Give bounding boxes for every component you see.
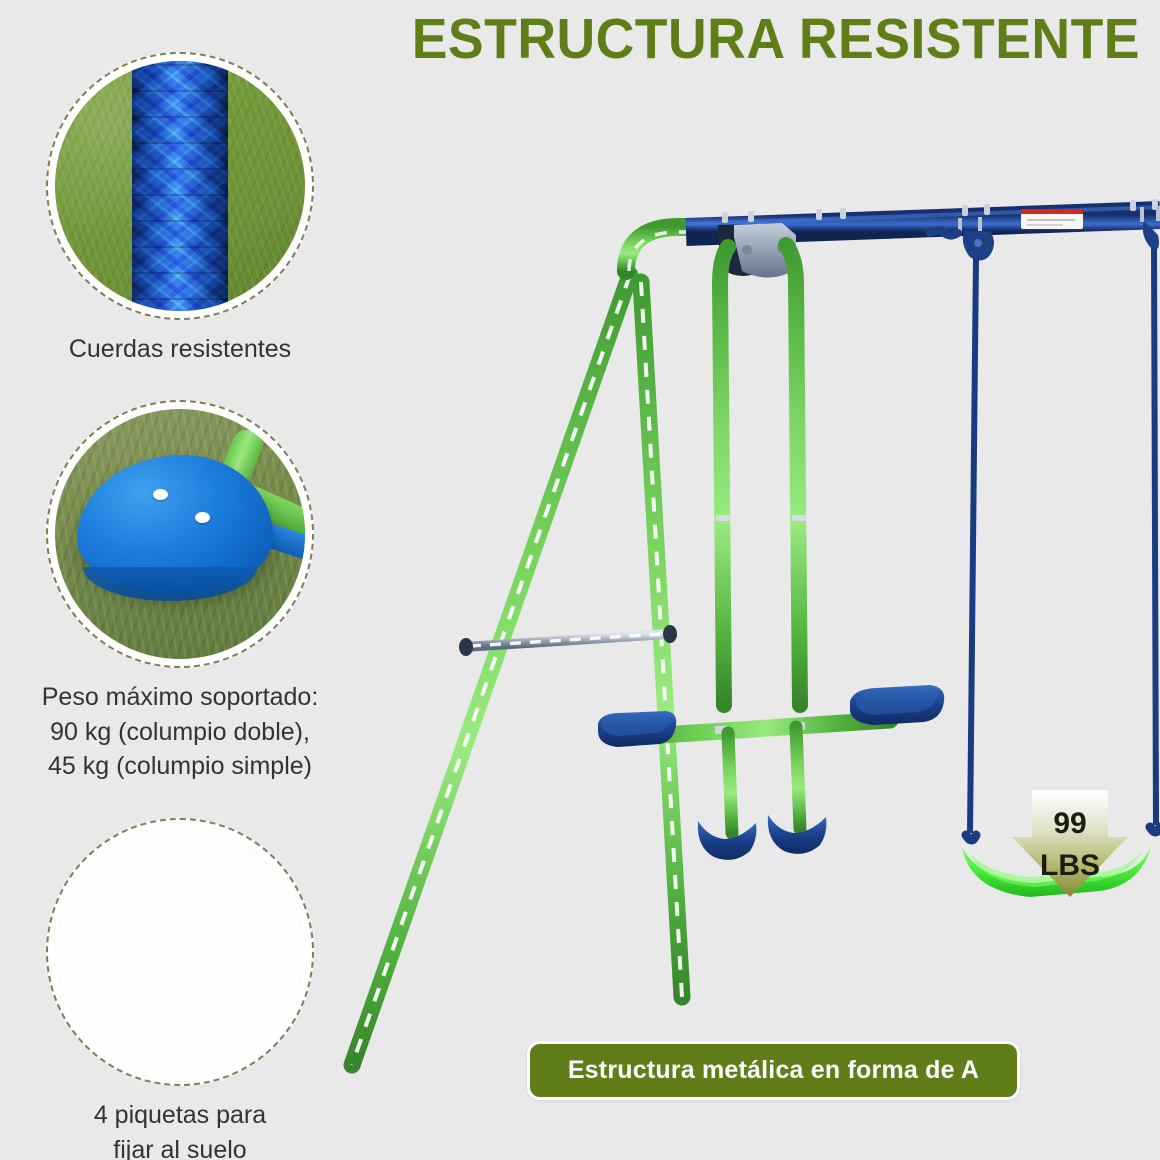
swing-seat-photo: [55, 409, 305, 659]
glider-hanger-right: [786, 245, 800, 705]
caption-line: 45 kg (columpio simple): [0, 749, 360, 784]
glider-hanger-bolts: [716, 515, 807, 521]
braided-rope: [132, 61, 228, 311]
frame-leg-front: [352, 275, 630, 1065]
caption-line: 4 piquetas para: [0, 1098, 360, 1133]
frame-leg-right: [1142, 245, 1152, 485]
glider-seat-right: [850, 685, 944, 725]
caption-line: 90 kg (columpio doble),: [0, 715, 360, 750]
frame-type-banner: Estructura metálica en forma de A: [527, 1041, 1020, 1100]
infographic-page: ESTRUCTURA RESISTENTE Cuerdas resistente…: [0, 0, 1160, 1160]
seat-rivet: [195, 512, 210, 523]
feature-ground-stakes-circle: [46, 818, 314, 1086]
feature-ground-stakes-caption: 4 piquetas para fijar al suelo: [0, 1098, 360, 1160]
feature-ropes: Cuerdas resistentes: [0, 52, 360, 367]
glider-hanger-left: [720, 247, 728, 705]
feature-max-weight: Peso máximo soportado: 90 kg (columpio d…: [0, 400, 360, 784]
glider-seat-left: [598, 711, 676, 747]
feature-ropes-circle: [46, 52, 314, 320]
page-title: ESTRUCTURA RESISTENTE: [473, 8, 1140, 70]
feature-max-weight-caption: Peso máximo soportado: 90 kg (columpio d…: [0, 680, 360, 784]
caption-line: Cuerdas resistentes: [0, 332, 360, 367]
feature-ropes-caption: Cuerdas resistentes: [0, 332, 360, 367]
seat-rivet: [153, 489, 168, 500]
caption-line: fijar al suelo: [0, 1133, 360, 1160]
beam-warning-label: [1021, 209, 1083, 229]
load-value: 99: [1053, 807, 1086, 840]
caption-line: Peso máximo soportado:: [0, 680, 360, 715]
feature-max-weight-circle: [46, 400, 314, 668]
ground-stakes-photo: [55, 827, 305, 1077]
glider-swing: [598, 685, 944, 860]
load-unit: LBS: [1040, 849, 1100, 882]
rope-photo: [55, 61, 305, 311]
product-image: 99 LBS: [330, 185, 1160, 1085]
feature-ground-stakes: 4 piquetas para fijar al suelo: [0, 818, 360, 1160]
white-background: [55, 827, 305, 1077]
swing-ropes: [966, 247, 1160, 840]
